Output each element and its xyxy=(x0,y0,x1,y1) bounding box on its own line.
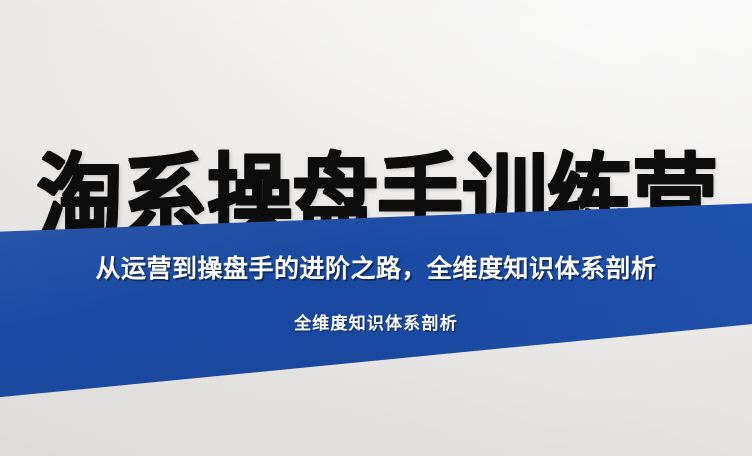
watermark-top-right: · · · · · · · · · · xyxy=(623,53,706,60)
watermark-bottom-center: · · · · xyxy=(296,402,323,408)
subtitle-secondary: 全维度知识体系剖析 xyxy=(0,309,752,334)
subtitle-primary: 从运营到操盘手的进阶之路，全维度知识体系剖析 xyxy=(0,249,752,285)
poster-canvas: · · · · · · · · · · 淘系操盘手训练营 从运营到操盘手的进阶之… xyxy=(0,0,752,456)
